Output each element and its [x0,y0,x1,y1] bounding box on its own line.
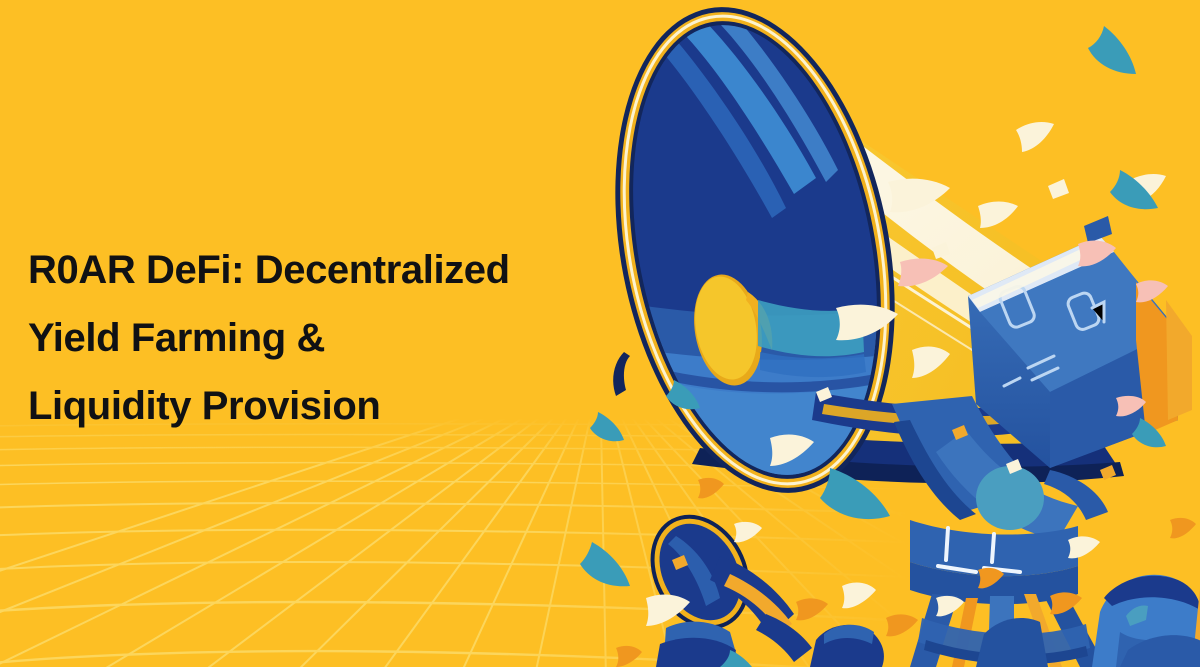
tripod-mount [892,396,1108,604]
megaphone-horn-interior [610,0,910,530]
headline-line-1: R0AR DeFi: Decentralized [28,236,648,304]
megaphone-illustration [580,0,1200,667]
promo-banner: R0AR DeFi: Decentralized Yield Farming &… [0,0,1200,667]
headline-line-2: Yield Farming & [28,304,648,372]
megaphone-neck [812,392,1026,436]
tripod-legs [910,590,1106,667]
banner-headline: R0AR DeFi: Decentralized Yield Farming &… [28,236,648,440]
small-megaphone [631,497,812,667]
megaphone-center-oval [686,269,773,391]
camera-body [968,216,1192,468]
headline-line-3: Liquidity Provision [28,372,648,440]
megaphone-cone-body [692,120,1125,484]
crowd-figures [810,565,1200,667]
confetti [580,26,1196,667]
